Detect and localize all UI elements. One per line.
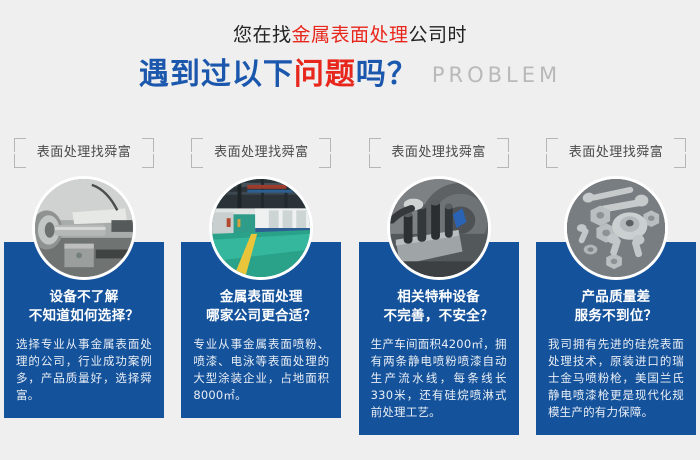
card-description: 专业从事金属表面喷粉、喷漆、电泳等表面处理的大型涂装企业，占地面积8000㎡。 [193, 336, 329, 404]
card-title-line2: 服务不到位？ [548, 307, 684, 326]
card-tag-text: 表面处理找舜富 [185, 138, 337, 168]
card-title-line2: 不完善，不安全？ [371, 307, 507, 326]
headline-accent-keyword: 金属表面处理 [291, 24, 408, 46]
card-description: 生产车间面积4200㎡，拥有两条静电喷粉喷漆自动生产流水线，每条线长330米，还… [371, 336, 507, 421]
problem-card[interactable]: 表面处理找舜富 [359, 138, 519, 435]
card-tag-text: 表面处理找舜富 [540, 138, 692, 168]
card-description: 选择专业从事金属表面处理的公司，行业成功案例多，产品质量好，选择舜富。 [16, 336, 152, 404]
lathe-machining-photo [32, 176, 136, 280]
card-tag-label: 表面处理找舜富 [185, 138, 337, 168]
headline-prefix: 您在找 [233, 24, 292, 46]
card-title-line1: 相关特种设备 [371, 288, 507, 307]
headline-secondary: 遇到过以下问题吗？PROBLEM [0, 58, 700, 96]
card-title-line2: 不知道如何选择？ [16, 307, 152, 326]
problem-section-header: 您在找金属表面处理公司时 遇到过以下问题吗？PROBLEM [0, 0, 700, 96]
headline-question-part2: 吗？ [356, 57, 418, 92]
card-description: 我司拥有先进的硅烷表面处理技术，原装进口的瑞士金马喷粉枪，美国兰氏静电喷漆枪更是… [548, 336, 684, 421]
metal-fasteners-photo [564, 176, 668, 280]
card-title: 金属表面处理 哪家公司更合适？ [193, 288, 329, 326]
card-title-line1: 金属表面处理 [193, 288, 329, 307]
headline-question-part1: 遇到过以下 [139, 57, 294, 92]
problem-card-list: 表面处理找舜富 [0, 138, 700, 435]
card-title: 设备不了解 不知道如何选择？ [16, 288, 152, 326]
problem-card[interactable]: 表面处理找舜富 [4, 138, 164, 435]
card-title: 相关特种设备 不完善，不安全？ [371, 288, 507, 326]
card-tag-label: 表面处理找舜富 [540, 138, 692, 168]
problem-card[interactable]: 表面处理找舜富 [536, 138, 696, 435]
card-body: 金属表面处理 哪家公司更合适？ 专业从事金属表面喷粉、喷漆、电泳等表面处理的大型… [181, 242, 341, 418]
card-tag-text: 表面处理找舜富 [363, 138, 515, 168]
headline-question-accent: 问题 [294, 57, 356, 92]
card-title: 产品质量差 服务不到位？ [548, 288, 684, 326]
card-body: 产品质量差 服务不到位？ 我司拥有先进的硅烷表面处理技术，原装进口的瑞士金马喷粉… [536, 242, 696, 435]
card-title-line2: 哪家公司更合适？ [193, 307, 329, 326]
card-tag-label: 表面处理找舜富 [8, 138, 160, 168]
card-body: 相关特种设备 不完善，不安全？ 生产车间面积4200㎡，拥有两条静电喷粉喷漆自动… [359, 242, 519, 435]
card-title-line1: 设备不了解 [16, 288, 152, 307]
card-tag-label: 表面处理找舜富 [363, 138, 515, 168]
metal-tooling-photo [387, 176, 491, 280]
headline-english-label: PROBLEM [432, 63, 561, 87]
headline-suffix: 公司时 [409, 24, 468, 46]
card-body: 设备不了解 不知道如何选择？ 选择专业从事金属表面处理的公司，行业成功案例多，产… [4, 242, 164, 418]
card-title-line1: 产品质量差 [548, 288, 684, 307]
headline-primary: 您在找金属表面处理公司时 [0, 22, 700, 48]
card-tag-text: 表面处理找舜富 [8, 138, 160, 168]
factory-workshop-photo [209, 176, 313, 280]
problem-card[interactable]: 表面处理找舜富 [181, 138, 341, 435]
